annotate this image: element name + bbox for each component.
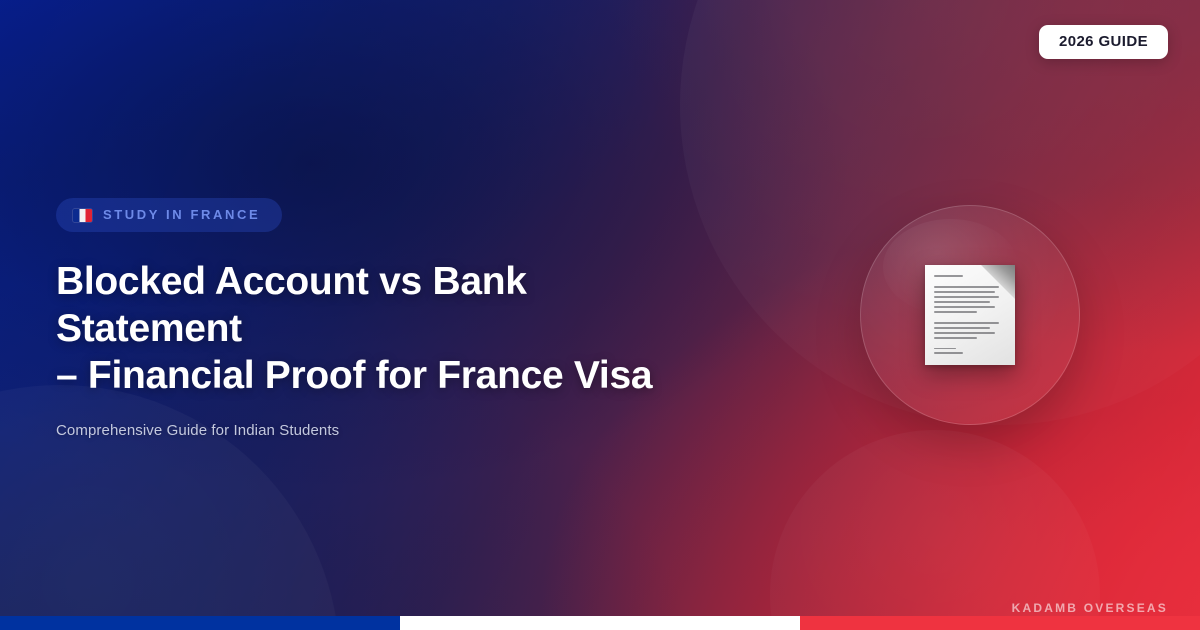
document-page-icon bbox=[925, 265, 1015, 365]
guide-year-badge[interactable]: 2026 GUIDE bbox=[1039, 25, 1168, 59]
page-subtitle: Comprehensive Guide for Indian Students bbox=[56, 421, 746, 441]
page-title-line-1: Blocked Account vs Bank bbox=[56, 258, 746, 305]
document-text-lines bbox=[934, 275, 1006, 357]
study-in-france-tag: STUDY IN FRANCE bbox=[56, 198, 282, 232]
study-in-france-tag-label: STUDY IN FRANCE bbox=[103, 208, 260, 221]
hero-banner: 2026 GUIDE STUDY IN FRANCE Blocked Accou… bbox=[0, 0, 1200, 630]
page-title-line-3: – Financial Proof for France Visa bbox=[56, 352, 746, 399]
hero-content: STUDY IN FRANCE Blocked Account vs Bank … bbox=[56, 198, 746, 441]
france-tricolor-bar bbox=[0, 616, 1200, 630]
page-title: Blocked Account vs Bank Statement – Fina… bbox=[56, 258, 746, 399]
tricolor-segment-white bbox=[400, 616, 800, 630]
tricolor-segment-red bbox=[800, 616, 1200, 630]
tricolor-segment-blue bbox=[0, 616, 400, 630]
document-artwork bbox=[860, 205, 1080, 425]
france-flag-icon bbox=[73, 207, 92, 222]
brand-watermark: KADAMB OVERSEAS bbox=[1012, 602, 1168, 614]
page-title-line-2: Statement bbox=[56, 305, 746, 352]
